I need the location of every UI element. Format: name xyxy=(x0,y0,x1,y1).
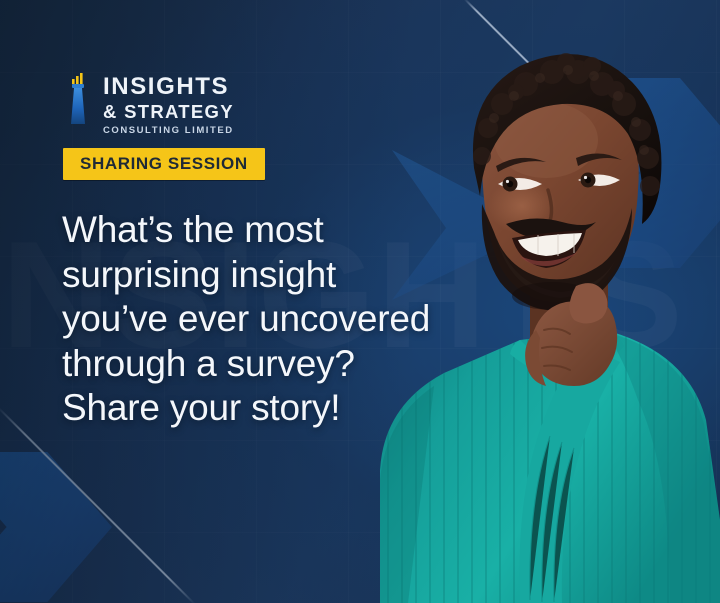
brand-name-line-1: INSIGHTS xyxy=(103,75,234,99)
headline-line-3: you’ve ever uncovered xyxy=(62,297,492,342)
headline-line-4: through a survey? xyxy=(62,342,492,387)
brand-logo[interactable]: INSIGHTS & STRATEGY CONSULTING LIMITED xyxy=(63,72,234,135)
sharing-session-badge: SHARING SESSION xyxy=(63,148,265,180)
headline-line-2: surprising insight xyxy=(62,253,492,298)
headline-line-1: What’s the most xyxy=(62,208,492,253)
headline-line-5: Share your story! xyxy=(62,386,492,431)
social-graphic-canvas: INSIGHTS & STRATEGY CONSULTING xyxy=(0,0,720,603)
brand-wordmark: INSIGHTS & STRATEGY CONSULTING LIMITED xyxy=(103,72,234,135)
bar-chart-pillar-icon xyxy=(63,72,93,130)
headline: What’s the most surprising insight you’v… xyxy=(62,208,492,431)
brand-name-line-3: CONSULTING LIMITED xyxy=(103,126,234,136)
brand-name-line-2: & STRATEGY xyxy=(103,101,234,123)
